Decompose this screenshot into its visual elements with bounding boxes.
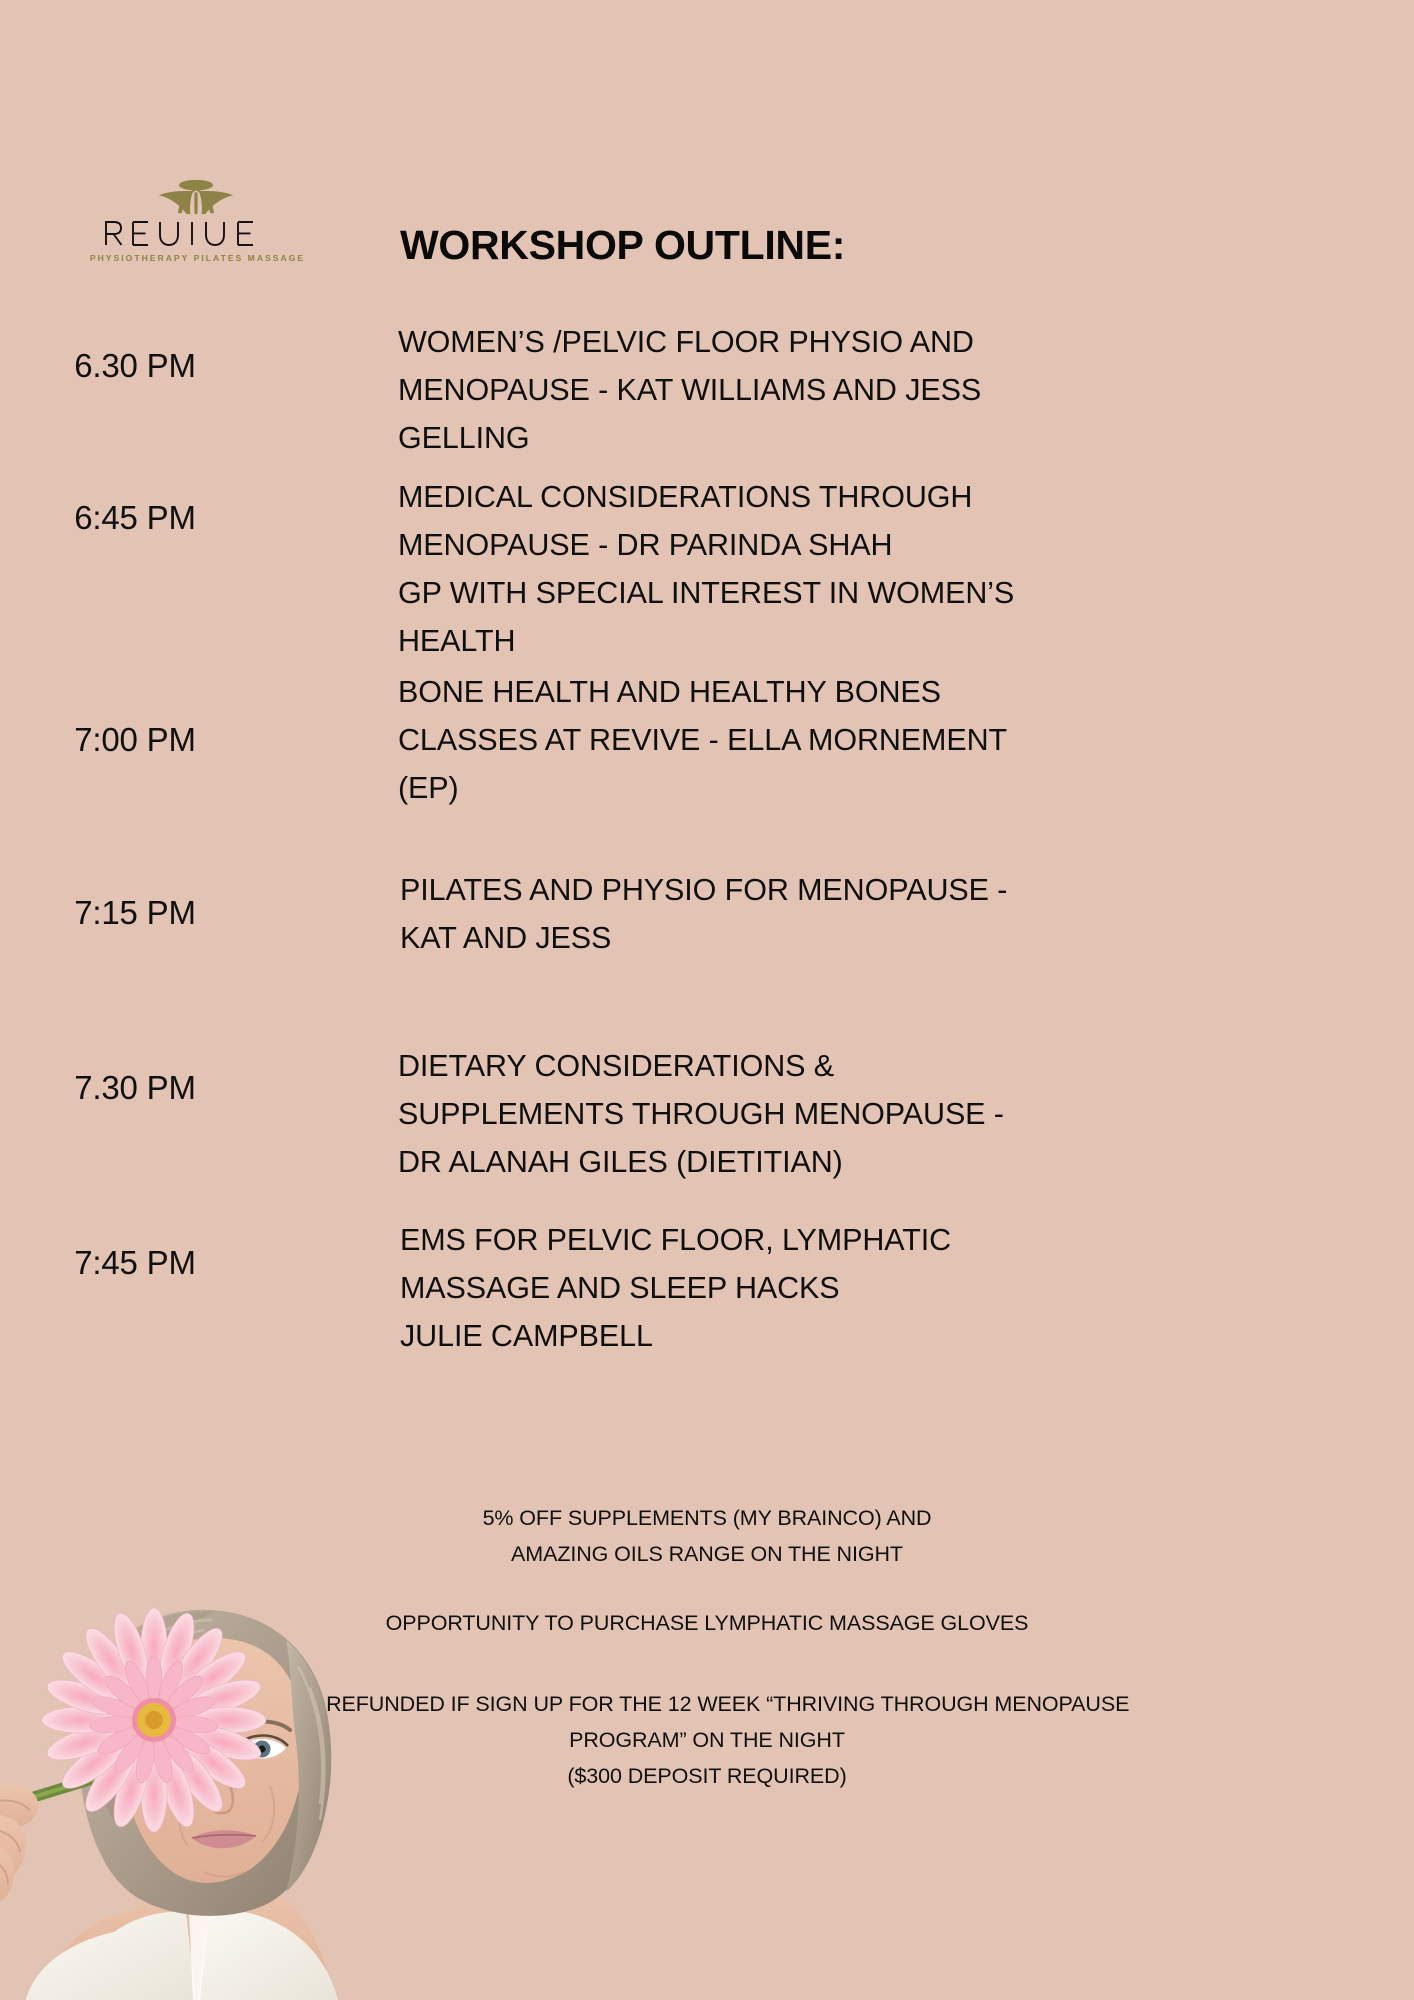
revive-logo: PHYSIOTHERAPY PILATES MASSAGE — [85, 178, 307, 268]
logo-tagline: PHYSIOTHERAPY PILATES MASSAGE — [85, 253, 307, 263]
promo-notes: OPPORTUNITY TO PURCHASE LYMPHATIC MASSAG… — [0, 1605, 1414, 1641]
logo-wordmark — [85, 218, 307, 248]
promo-notes: 5% OFF SUPPLEMENTS (MY BRAINCO) AND AMAZ… — [0, 1500, 1414, 1572]
schedule-description: DIETARY CONSIDERATIONS & SUPPLEMENTS THR… — [398, 1042, 1358, 1186]
schedule-time: 6.30 PM — [0, 346, 270, 386]
poster-canvas: PHYSIOTHERAPY PILATES MASSAGE WORKSHOP O… — [0, 0, 1414, 2000]
schedule-description: PILATES AND PHYSIO FOR MENOPAUSE - KAT A… — [400, 866, 1360, 962]
page-title: WORKSHOP OUTLINE: — [400, 222, 845, 269]
note-gloves: OPPORTUNITY TO PURCHASE LYMPHATIC MASSAG… — [0, 1605, 1414, 1641]
note-refund: $50 REFUNDED IF SIGN UP FOR THE 12 WEEK … — [0, 1686, 1414, 1794]
promo-notes: $50 REFUNDED IF SIGN UP FOR THE 12 WEEK … — [0, 1686, 1414, 1794]
schedule-time: 7:00 PM — [0, 720, 270, 760]
schedule-time: 6:45 PM — [0, 498, 270, 538]
schedule-description: BONE HEALTH AND HEALTHY BONES CLASSES AT… — [398, 668, 1358, 812]
schedule-time: 7:15 PM — [0, 893, 270, 933]
schedule-description: MEDICAL CONSIDERATIONS THROUGH MENOPAUSE… — [398, 473, 1358, 665]
schedule-time: 7:45 PM — [0, 1243, 270, 1283]
schedule-description: EMS FOR PELVIC FLOOR, LYMPHATIC MASSAGE … — [400, 1216, 1360, 1360]
lotus-flower-icon — [85, 178, 307, 216]
schedule-description: WOMEN’S /PELVIC FLOOR PHYSIO AND MENOPAU… — [398, 318, 1358, 462]
schedule-time: 7.30 PM — [0, 1068, 270, 1108]
note-supplements-offer: 5% OFF SUPPLEMENTS (MY BRAINCO) AND AMAZ… — [0, 1500, 1414, 1572]
